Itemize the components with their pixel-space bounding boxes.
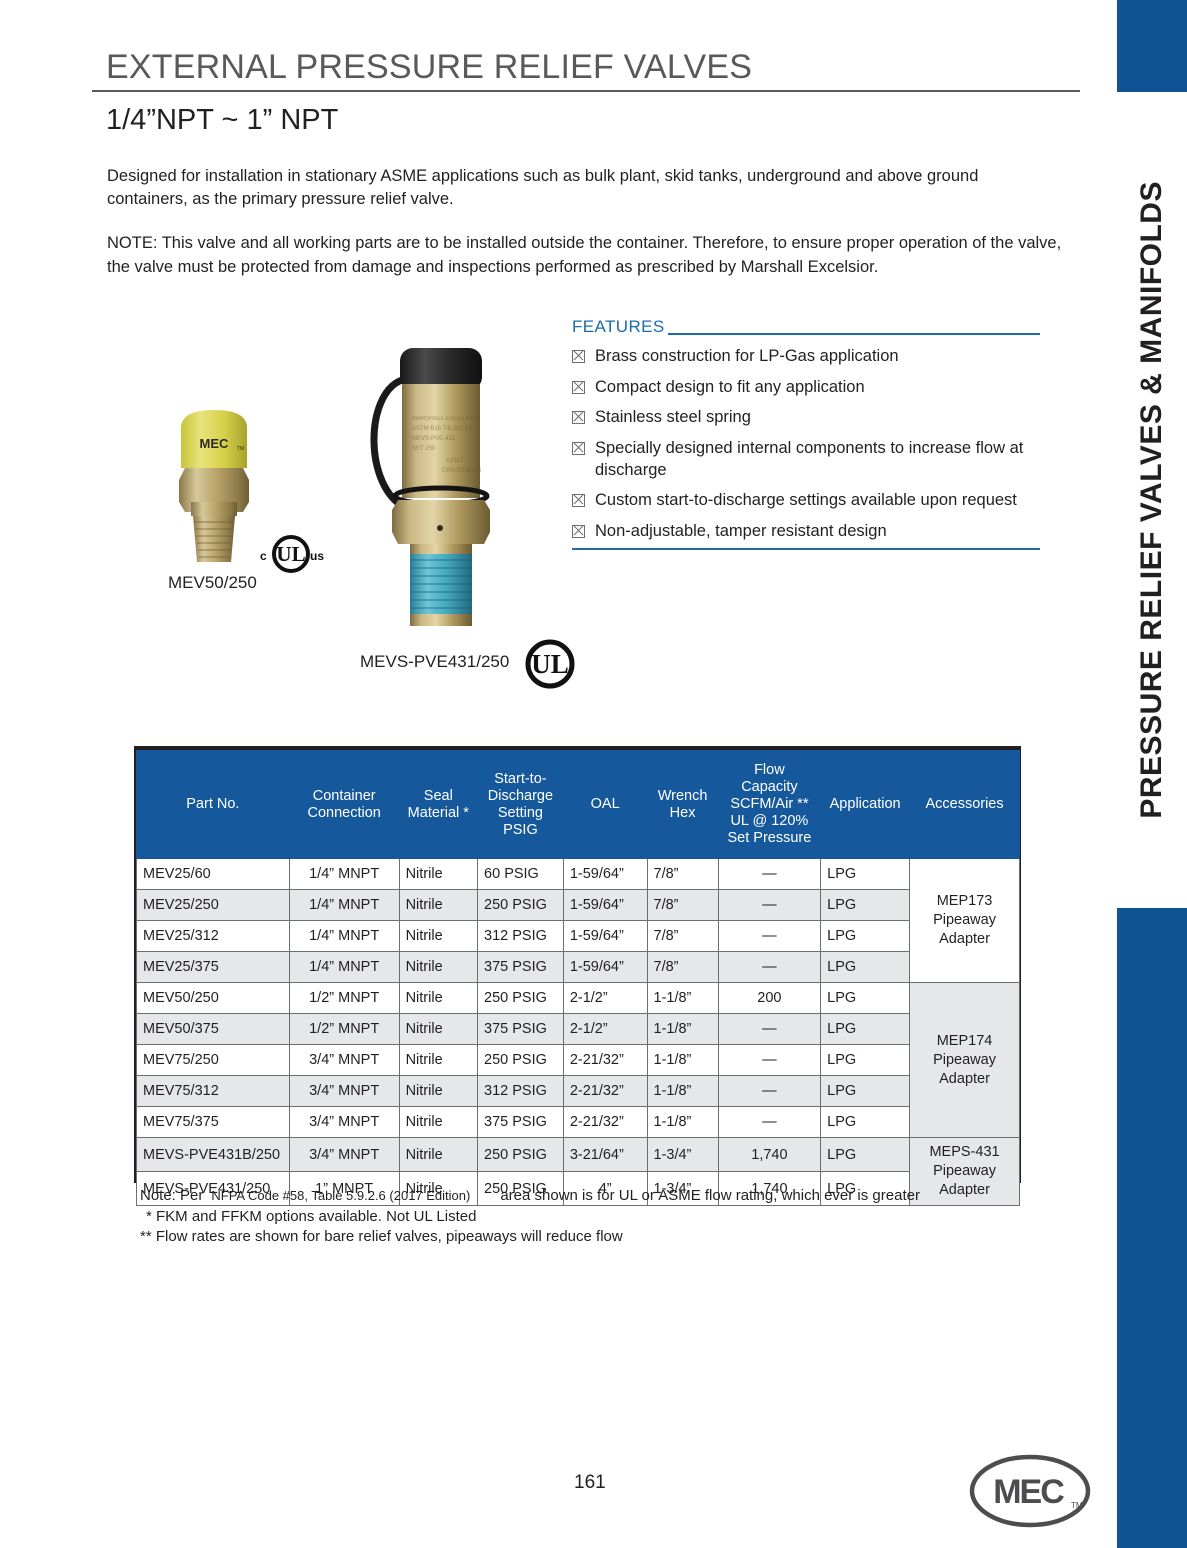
table-row: MEV50/375 1/2” MNPT Nitrile 375 PSIG 2-1… bbox=[137, 1014, 1020, 1045]
cell-hex: 7/8” bbox=[647, 952, 718, 983]
specification-table: Part No. Container Connection Seal Mater… bbox=[136, 750, 1020, 1206]
cell-application: LPG bbox=[821, 1107, 910, 1138]
cell-hex: 1-1/8” bbox=[647, 1107, 718, 1138]
note-paragraph: NOTE: This valve and all working parts a… bbox=[107, 231, 1082, 279]
product-photo-mev50-250: MEC TM bbox=[163, 398, 265, 570]
cell-application: LPG bbox=[821, 952, 910, 983]
cell-setting: 250 PSIG bbox=[478, 890, 564, 921]
cell-part-no: MEVS-PVE431B/250 bbox=[137, 1138, 290, 1172]
cell-oal: 1-59/64” bbox=[563, 921, 647, 952]
cell-setting: 250 PSIG bbox=[478, 1138, 564, 1172]
col-header-oal: OAL bbox=[563, 751, 647, 859]
col-header-accessories: Accessories bbox=[910, 751, 1020, 859]
table-row: MEV75/250 3/4” MNPT Nitrile 250 PSIG 2-2… bbox=[137, 1045, 1020, 1076]
svg-text:us: us bbox=[310, 549, 324, 563]
side-tab-block-bottom bbox=[1117, 908, 1187, 1548]
checkbox-bullet-icon bbox=[572, 525, 585, 538]
ul-certification-icon: UL bbox=[524, 638, 576, 690]
cell-oal: 1-59/64” bbox=[563, 952, 647, 983]
features-divider-top bbox=[668, 333, 1040, 335]
product-label-large: MEVS-PVE431/250 bbox=[360, 652, 509, 672]
col-header-container-connection: Container Connection bbox=[289, 751, 399, 859]
svg-text:MEVS-PVE-431: MEVS-PVE-431 bbox=[412, 436, 456, 442]
cell-setting: 312 PSIG bbox=[478, 921, 564, 952]
feature-text: Compact design to fit any application bbox=[595, 376, 1042, 398]
col-header-start-to-discharge: Start-to- Discharge Setting PSIG bbox=[478, 751, 564, 859]
cell-oal: 1-59/64” bbox=[563, 890, 647, 921]
cell-hex: 7/8” bbox=[647, 890, 718, 921]
cell-seal: Nitrile bbox=[399, 921, 477, 952]
side-tab-section-label: PRESSURE RELIEF VALVES & MANIFOLDS bbox=[1117, 92, 1187, 908]
table-row: MEV25/60 1/4” MNPT Nitrile 60 PSIG 1-59/… bbox=[137, 859, 1020, 890]
intro-paragraph: Designed for installation in stationary … bbox=[107, 165, 1027, 211]
cell-setting: 312 PSIG bbox=[478, 1076, 564, 1107]
cell-setting: 250 PSIG bbox=[478, 983, 564, 1014]
cell-hex: 1-3/4” bbox=[647, 1138, 718, 1172]
cell-oal: 2-21/32” bbox=[563, 1107, 647, 1138]
cell-connection: 3/4” MNPT bbox=[289, 1138, 399, 1172]
cell-flow: — bbox=[718, 921, 821, 952]
svg-text:MEC: MEC bbox=[993, 1473, 1064, 1511]
cell-seal: Nitrile bbox=[399, 1076, 477, 1107]
svg-text:UL: UL bbox=[276, 542, 305, 566]
cell-connection: 1/4” MNPT bbox=[289, 921, 399, 952]
cell-oal: 1-59/64” bbox=[563, 859, 647, 890]
cell-part-no: MEV75/375 bbox=[137, 1107, 290, 1138]
cell-flow: 1,740 bbox=[718, 1138, 821, 1172]
cell-connection: 1/4” MNPT bbox=[289, 859, 399, 890]
page-title: EXTERNAL PRESSURE RELIEF VALVES bbox=[106, 48, 752, 87]
feature-text: Custom start-to-discharge settings avail… bbox=[595, 489, 1042, 511]
side-tab-block-top bbox=[1117, 0, 1187, 92]
feature-text: Specially designed internal components t… bbox=[595, 437, 1042, 481]
table-row: MEV25/375 1/4” MNPT Nitrile 375 PSIG 1-5… bbox=[137, 952, 1020, 983]
cell-flow: — bbox=[718, 1076, 821, 1107]
mec-logo-icon: MEC TM bbox=[968, 1452, 1092, 1530]
feature-text: Non-adjustable, tamper resistant design bbox=[595, 520, 1042, 542]
cell-connection: 3/4” MNPT bbox=[289, 1107, 399, 1138]
title-divider bbox=[92, 90, 1080, 92]
feature-item: Brass construction for LP-Gas applicatio… bbox=[572, 345, 1042, 367]
cell-flow: — bbox=[718, 890, 821, 921]
footnote-note-label: Note: Per bbox=[140, 1186, 203, 1207]
checkbox-bullet-icon bbox=[572, 442, 585, 455]
cell-hex: 1-1/8” bbox=[647, 983, 718, 1014]
cell-seal: Nitrile bbox=[399, 983, 477, 1014]
table-row: MEV50/250 1/2” MNPT Nitrile 250 PSIG 2-1… bbox=[137, 983, 1020, 1014]
checkbox-bullet-icon bbox=[572, 411, 585, 424]
page-subtitle: 1/4”NPT ~ 1” NPT bbox=[106, 104, 338, 137]
col-header-seal-material: Seal Material * bbox=[399, 751, 477, 859]
svg-text:MEC: MEC bbox=[200, 436, 230, 451]
cell-oal: 2-21/32” bbox=[563, 1076, 647, 1107]
cell-flow: — bbox=[718, 1107, 821, 1138]
col-header-application: Application bbox=[821, 751, 910, 859]
cell-hex: 1-1/8” bbox=[647, 1076, 718, 1107]
cell-connection: 1/4” MNPT bbox=[289, 952, 399, 983]
product-photo-mevs-pve431-250: MARSHALL EXCELSIOR ASTM B16 7/8 250 PSI … bbox=[360, 338, 520, 643]
cell-connection: 1/4” MNPT bbox=[289, 890, 399, 921]
cell-application: LPG bbox=[821, 1045, 910, 1076]
col-header-part-no: Part No. bbox=[137, 751, 290, 859]
cell-oal: 3-21/64” bbox=[563, 1138, 647, 1172]
cell-connection: 3/4” MNPT bbox=[289, 1045, 399, 1076]
cell-seal: Nitrile bbox=[399, 859, 477, 890]
cell-part-no: MEV75/250 bbox=[137, 1045, 290, 1076]
svg-text:c: c bbox=[260, 549, 267, 563]
cell-oal: 2-1/2” bbox=[563, 1014, 647, 1045]
cell-seal: Nitrile bbox=[399, 952, 477, 983]
cell-setting: 250 PSIG bbox=[478, 1045, 564, 1076]
feature-item: Specially designed internal components t… bbox=[572, 437, 1042, 481]
feature-text: Brass construction for LP-Gas applicatio… bbox=[595, 345, 1042, 367]
svg-text:TM: TM bbox=[1071, 1501, 1083, 1510]
checkbox-bullet-icon bbox=[572, 494, 585, 507]
table-footnotes: Note: Per NFPA Code #58, Table 5.9.2.6 (… bbox=[140, 1186, 1030, 1248]
col-header-wrench-hex: Wrench Hex bbox=[647, 751, 718, 859]
cell-seal: Nitrile bbox=[399, 1107, 477, 1138]
svg-text:CRN 0G15195: CRN 0G15195 bbox=[442, 468, 482, 474]
side-tab-label-text: PRESSURE RELIEF VALVES & MANIFOLDS bbox=[1135, 181, 1169, 819]
cell-setting: 60 PSIG bbox=[478, 859, 564, 890]
checkbox-bullet-icon bbox=[572, 381, 585, 394]
footnote-flow-rates: ** Flow rates are shown for bare relief … bbox=[140, 1227, 1030, 1248]
table-row: MEV25/250 1/4” MNPT Nitrile 250 PSIG 1-5… bbox=[137, 890, 1020, 921]
cell-hex: 1-1/8” bbox=[647, 1014, 718, 1045]
page-number: 161 bbox=[574, 1472, 606, 1494]
features-divider-bottom bbox=[572, 548, 1040, 550]
cell-flow: — bbox=[718, 1045, 821, 1076]
feature-item: Stainless steel spring bbox=[572, 406, 1042, 428]
cell-part-no: MEV25/60 bbox=[137, 859, 290, 890]
svg-text:A2317: A2317 bbox=[446, 458, 464, 464]
footnote-nfpa-code: NFPA Code #58, Table 5.9.2.6 (2017 Editi… bbox=[211, 1186, 470, 1207]
cell-application: LPG bbox=[821, 1076, 910, 1107]
cell-connection: 1/2” MNPT bbox=[289, 1014, 399, 1045]
cell-part-no: MEV25/375 bbox=[137, 952, 290, 983]
footnote-nfpa-tail: area shown is for UL or ASME flow rating… bbox=[500, 1186, 920, 1207]
svg-text:MARSHALL EXCELSIOR: MARSHALL EXCELSIOR bbox=[412, 416, 481, 422]
cell-oal: 2-21/32” bbox=[563, 1045, 647, 1076]
cell-oal: 2-1/2” bbox=[563, 983, 647, 1014]
cell-connection: 3/4” MNPT bbox=[289, 1076, 399, 1107]
table-row: MEV75/312 3/4” MNPT Nitrile 312 PSIG 2-2… bbox=[137, 1076, 1020, 1107]
cell-seal: Nitrile bbox=[399, 1014, 477, 1045]
feature-item: Non-adjustable, tamper resistant design bbox=[572, 520, 1042, 542]
feature-item: Compact design to fit any application bbox=[572, 376, 1042, 398]
cell-seal: Nitrile bbox=[399, 1045, 477, 1076]
cell-seal: Nitrile bbox=[399, 1138, 477, 1172]
feature-text: Stainless steel spring bbox=[595, 406, 1042, 428]
cell-hex: 1-1/8” bbox=[647, 1045, 718, 1076]
cell-part-no: MEV50/375 bbox=[137, 1014, 290, 1045]
cell-part-no: MEV50/250 bbox=[137, 983, 290, 1014]
table-row: MEV75/375 3/4” MNPT Nitrile 375 PSIG 2-2… bbox=[137, 1107, 1020, 1138]
cell-application: LPG bbox=[821, 983, 910, 1014]
cell-application: LPG bbox=[821, 1138, 910, 1172]
cell-part-no: MEV25/250 bbox=[137, 890, 290, 921]
cell-flow: — bbox=[718, 1014, 821, 1045]
footnote-nfpa: Note: Per NFPA Code #58, Table 5.9.2.6 (… bbox=[140, 1186, 1030, 1207]
table-header-row: Part No. Container Connection Seal Mater… bbox=[137, 751, 1020, 859]
cell-flow: — bbox=[718, 952, 821, 983]
footnote-seal-material: * FKM and FFKM options available. Not UL… bbox=[140, 1207, 1030, 1228]
cell-accessory: MEP173 Pipeaway Adapter bbox=[910, 859, 1020, 983]
cell-setting: 375 PSIG bbox=[478, 1014, 564, 1045]
table-row: MEVS-PVE431B/250 3/4” MNPT Nitrile 250 P… bbox=[137, 1138, 1020, 1172]
svg-text:UL: UL bbox=[531, 649, 569, 679]
cell-part-no: MEV75/312 bbox=[137, 1076, 290, 1107]
features-heading: FEATURES bbox=[572, 317, 665, 337]
cell-flow: — bbox=[718, 859, 821, 890]
feature-item: Custom start-to-discharge settings avail… bbox=[572, 489, 1042, 511]
cell-hex: 7/8” bbox=[647, 859, 718, 890]
cell-hex: 7/8” bbox=[647, 921, 718, 952]
cell-flow: 200 bbox=[718, 983, 821, 1014]
c-ul-us-certification-icon: c UL us bbox=[258, 530, 328, 578]
checkbox-bullet-icon bbox=[572, 350, 585, 363]
cell-application: LPG bbox=[821, 1014, 910, 1045]
cell-application: LPG bbox=[821, 890, 910, 921]
product-label-small: MEV50/250 bbox=[168, 573, 257, 593]
cell-setting: 375 PSIG bbox=[478, 952, 564, 983]
cell-setting: 375 PSIG bbox=[478, 1107, 564, 1138]
cell-application: LPG bbox=[821, 921, 910, 952]
table-row: MEV25/312 1/4” MNPT Nitrile 312 PSIG 1-5… bbox=[137, 921, 1020, 952]
svg-text:TM: TM bbox=[237, 446, 244, 452]
cell-accessory: MEP174 Pipeaway Adapter bbox=[910, 983, 1020, 1138]
svg-text:SET 250: SET 250 bbox=[412, 446, 436, 452]
cell-application: LPG bbox=[821, 859, 910, 890]
cell-connection: 1/2” MNPT bbox=[289, 983, 399, 1014]
features-list: Brass construction for LP-Gas applicatio… bbox=[572, 345, 1042, 550]
svg-text:ASTM B16 7/8 250 PSI: ASTM B16 7/8 250 PSI bbox=[412, 426, 474, 432]
col-header-flow-capacity: Flow Capacity SCFM/Air ** UL @ 120% Set … bbox=[718, 751, 821, 859]
cell-seal: Nitrile bbox=[399, 890, 477, 921]
cell-part-no: MEV25/312 bbox=[137, 921, 290, 952]
